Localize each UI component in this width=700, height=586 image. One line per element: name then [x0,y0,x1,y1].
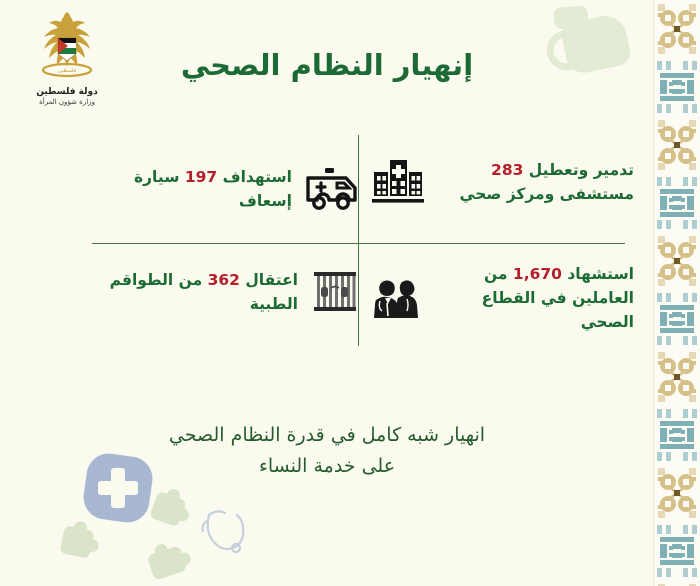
stat-hospital-number: 283 [491,161,523,179]
medical-staff-icon [372,274,418,322]
stat-hospital-suffix: مستشفى ومركز صحي [460,185,634,203]
page-title: إنهيار النظام الصحي [0,48,654,82]
stat-detention-prefix: اعتقال [240,271,298,289]
stat-hospital-prefix: تدمير وتعطيل [523,161,634,179]
vertical-divider [358,135,359,346]
stat-ambulance: استهداف 197 سيارة إسعاف [78,165,358,213]
prison-bars-icon [312,269,358,315]
footer-message: انهيار شبه كامل في قدرة النظام الصحي على… [0,420,654,483]
puzzle-piece-icon [149,491,187,528]
tatreez-motif [654,174,700,232]
tatreez-motif [654,464,700,522]
footer-line-1: انهيار شبه كامل في قدرة النظام الصحي [0,420,654,451]
logo-ministry-label: وزارة شؤون المرأة [14,98,120,106]
hospital-icon [372,158,424,206]
ambulance-icon [306,167,358,211]
stat-ambulance-number: 197 [185,168,217,186]
stat-ambulance-prefix: استهداف [217,168,292,186]
stat-hospital: تدمير وتعطيل 283 مستشفى ومركز صحي [372,158,634,206]
tatreez-motif [654,116,700,174]
stat-detention-number: 362 [208,271,240,289]
stat-detention-text: اعتقال 362 من الطواقم الطبية [78,268,298,316]
tatreez-border-pattern [653,0,700,586]
tatreez-motif [654,348,700,406]
tatreez-motif [654,406,700,464]
tatreez-motif [654,290,700,348]
stat-detention: اعتقال 362 من الطواقم الطبية [78,268,358,316]
tatreez-motif [654,580,700,586]
stat-martyrs-prefix: استشهاد [562,265,634,283]
tatreez-motif [654,522,700,580]
infographic-poster: فلسطين دولة فلسطين وزارة شؤون المرأة إنه… [0,0,700,586]
stat-hospital-text: تدمير وتعطيل 283 مستشفى ومركز صحي [438,158,634,206]
logo-state-label: دولة فلسطين [14,87,120,97]
stat-martyrs-text: استشهاد 1,670 من العاملين في القطاع الصح… [432,262,634,334]
stethoscope-icon [195,505,255,567]
tatreez-motif [654,58,700,116]
footer-line-2: على خدمة النساء [0,451,654,482]
puzzle-piece-icon [147,545,187,580]
puzzle-piece-icon [59,525,94,559]
tatreez-motif [654,0,700,58]
stat-ambulance-text: استهداف 197 سيارة إسعاف [78,165,292,213]
tatreez-motif [654,232,700,290]
stat-martyrs: استشهاد 1,670 من العاملين في القطاع الصح… [372,262,634,334]
stat-martyrs-number: 1,670 [513,265,562,283]
